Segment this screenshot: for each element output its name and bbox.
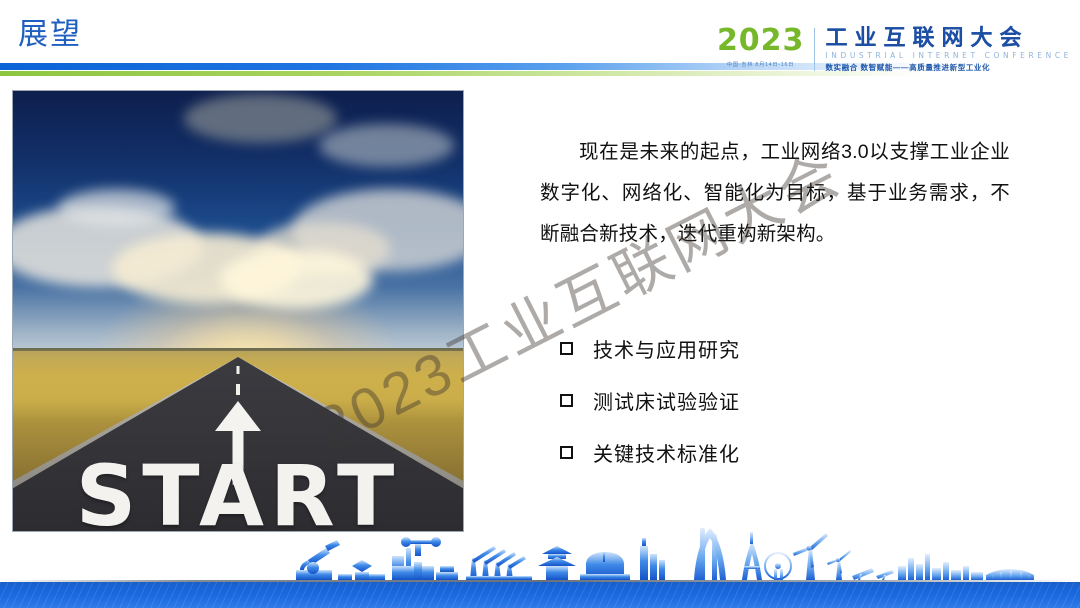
bullet-label: 技术与应用研究 (593, 334, 740, 363)
photo-sky (13, 91, 463, 364)
cloud-shape (184, 94, 337, 143)
industrial-skyline-icon (0, 526, 1080, 584)
square-bullet-icon (560, 342, 573, 355)
logo-year-block: 2023 中国·吉林 8月14日-16日 (717, 26, 815, 68)
logo-place-date: 中国·吉林 8月14日-16日 (727, 60, 794, 68)
body-paragraph: 现在是未来的起点，工业网络3.0以支撑工业企业数字化、网络化、智能化为目标，基于… (540, 132, 1010, 255)
logo-title-en: INDUSTRIAL INTERNET CONFERENCE (825, 51, 1072, 61)
bullet-list: 技术与应用研究 测试床试验验证 关键技术标准化 (560, 322, 1000, 478)
list-item: 测试床试验验证 (560, 374, 1000, 426)
cloud-shape (220, 249, 373, 309)
logo-year: 2023 (717, 26, 805, 56)
road-dash (236, 384, 240, 395)
bullet-label: 关键技术标准化 (593, 438, 740, 467)
bullet-label: 测试床试验验证 (593, 386, 740, 415)
logo-subtitle-cn: 数实融合 数智赋能——高质量推进新型工业化 (825, 62, 1072, 73)
footer-ground-plane (0, 582, 1080, 608)
logo-title-block: 工业互联网大会 INDUSTRIAL INTERNET CONFERENCE 数… (815, 26, 1072, 73)
cloud-shape (319, 124, 454, 168)
footer-band (0, 528, 1080, 608)
square-bullet-icon (560, 394, 573, 407)
road-start-text: START (76, 447, 401, 532)
square-bullet-icon (560, 446, 573, 459)
logo-title-cn: 工业互联网大会 (825, 26, 1072, 50)
hero-photo: START (12, 90, 464, 532)
road-dash (237, 366, 240, 374)
list-item: 关键技术标准化 (560, 426, 1000, 478)
slide-canvas: 展望 2023 中国·吉林 8月14日-16日 工业互联网大会 INDUSTRI… (0, 0, 1080, 608)
list-item: 技术与应用研究 (560, 322, 1000, 374)
conference-logo: 2023 中国·吉林 8月14日-16日 工业互联网大会 INDUSTRIAL … (717, 26, 1072, 73)
page-title: 展望 (18, 18, 82, 52)
